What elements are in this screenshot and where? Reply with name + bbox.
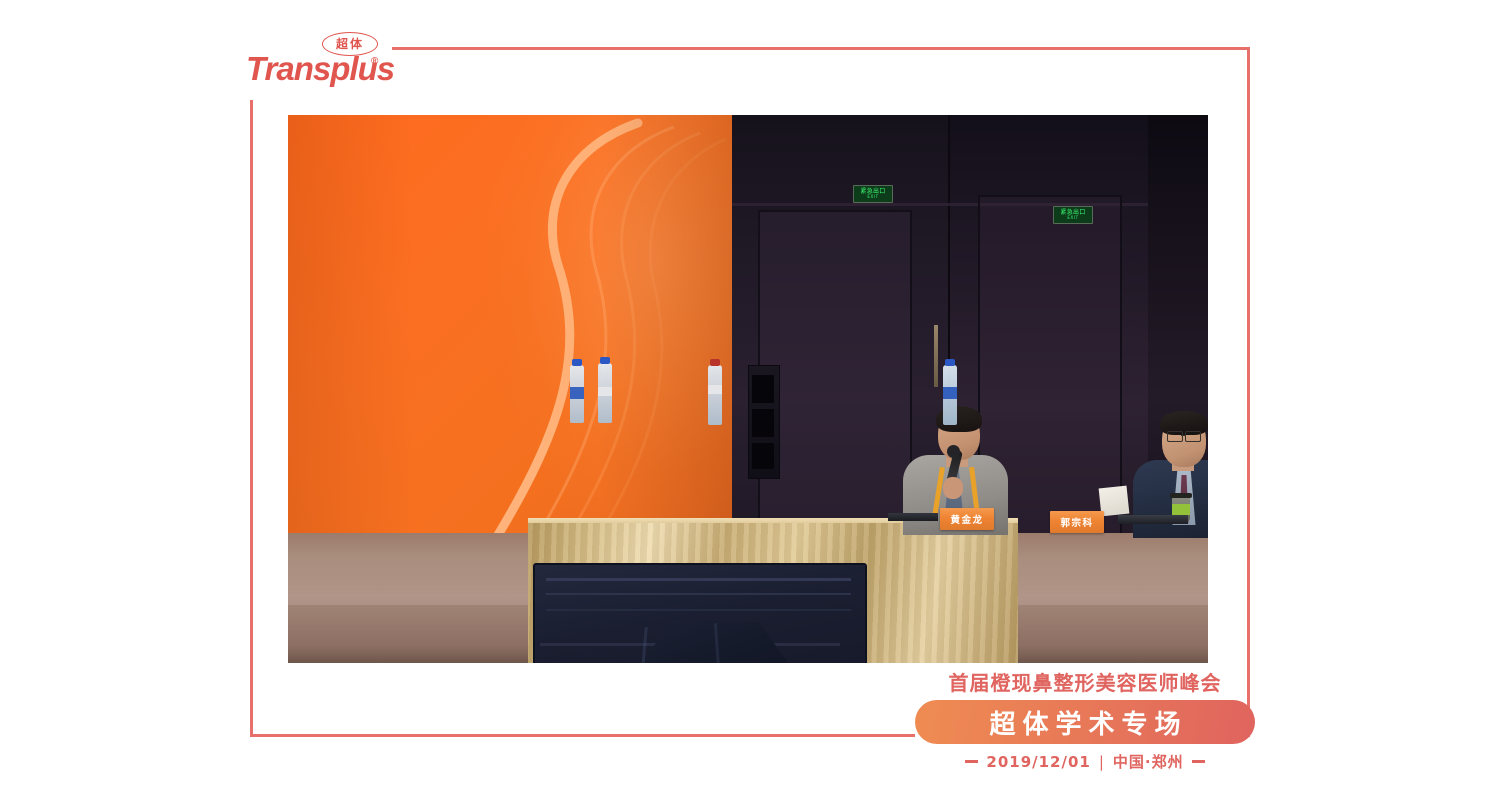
- event-meta: 2019/12/01 | 中国·郑州: [915, 751, 1255, 772]
- bottle-label: [570, 387, 584, 399]
- event-title-block: 首届橙现鼻整形美容医师峰会 超体学术专场 2019/12/01 | 中国·郑州: [915, 672, 1255, 772]
- coffee-cup-lid: [1170, 493, 1192, 498]
- wall-door-inset-1: [758, 210, 912, 544]
- exit-sign-label-en: EXIT: [867, 195, 878, 199]
- frame-left-rule: [250, 100, 253, 737]
- dash-icon: [965, 760, 978, 763]
- nameplate: 郭宗科: [1050, 511, 1104, 533]
- bottle-label: [943, 387, 957, 399]
- podium-moulding: [546, 578, 851, 581]
- screen-vignette: [288, 115, 732, 535]
- bottle-label: [708, 385, 722, 394]
- water-bottle: [708, 365, 722, 425]
- dash-icon: [1192, 760, 1205, 763]
- brand-logo: 超体 Transplus ®: [246, 30, 396, 92]
- panelist-2-body: [1133, 460, 1208, 538]
- exit-sign-label-en: EXIT: [1067, 216, 1078, 220]
- poster-page: 超体 Transplus ® 紧急出口 EXIT 紧急: [0, 0, 1500, 800]
- bottle-cap: [572, 359, 582, 366]
- frame-right-rule: [1247, 47, 1250, 737]
- exit-sign-icon: 紧急出口 EXIT: [853, 185, 893, 203]
- microphone-head: [947, 445, 960, 458]
- device-on-table: [1118, 515, 1188, 524]
- bottle-cap: [600, 357, 610, 364]
- exit-sign-icon: 紧急出口 EXIT: [1053, 206, 1093, 224]
- frame-top-rule: [392, 47, 1250, 50]
- hanging-mic: [934, 325, 938, 387]
- speaker-grille: [752, 443, 774, 469]
- eyeglasses-icon: [1167, 431, 1183, 442]
- device-on-table: [888, 513, 938, 521]
- coffee-cup-band: [1172, 504, 1190, 515]
- bottle-label: [598, 387, 612, 396]
- bottle-cap: [945, 359, 955, 366]
- frame-bottom-rule: [250, 734, 915, 737]
- meta-separator: |: [1099, 753, 1105, 771]
- speaker-grille: [752, 375, 774, 403]
- eyeglasses-bridge: [1181, 435, 1185, 436]
- podium-moulding: [546, 609, 851, 611]
- conference-panel-photo: 紧急出口 EXIT 紧急出口 EXIT 禁止吸烟: [288, 115, 1208, 663]
- registered-mark-icon: ®: [371, 56, 378, 67]
- event-location: 中国·郑州: [1113, 751, 1184, 772]
- speaker-grille: [752, 409, 774, 437]
- nameplate: 黄金龙: [940, 508, 994, 530]
- event-date: 2019/12/01: [986, 753, 1090, 771]
- bottle-cap: [710, 359, 720, 366]
- event-session-badge: 超体学术专场: [915, 700, 1255, 744]
- podium-moulding: [546, 593, 851, 595]
- stage-led-screen: [288, 115, 732, 535]
- eyeglasses-icon: [1185, 431, 1201, 442]
- panelist-1-hand: [943, 477, 963, 499]
- event-headline: 首届橙现鼻整形美容医师峰会: [915, 672, 1255, 694]
